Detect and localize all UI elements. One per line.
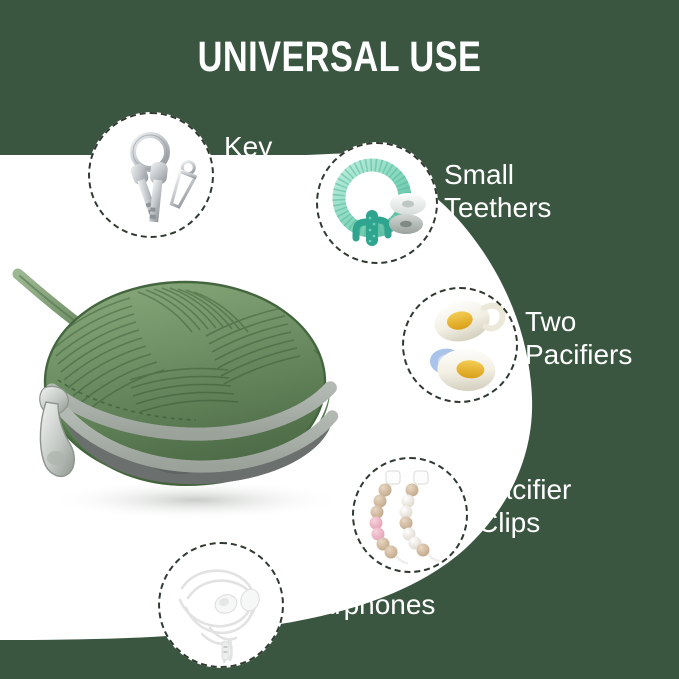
callout-circle-clips: [352, 457, 468, 573]
callout-label-key: Key: [224, 130, 272, 163]
callout-circle-key: [88, 112, 214, 238]
callout-label-earphones: Earphones: [300, 588, 435, 621]
page-title: UNIVERSAL USE: [68, 34, 611, 80]
callout-label-pacifiers: Two Pacifiers: [525, 305, 632, 371]
callout-label-teethers: Small Teethers: [444, 158, 551, 224]
dashed-ring-key: [88, 112, 214, 238]
dashed-ring-teethers: [316, 142, 438, 264]
callout-label-clips: Pacifier Clips: [478, 473, 571, 539]
dashed-ring-earphones: [158, 542, 284, 668]
dashed-ring-pacifiers: [402, 287, 518, 403]
callout-circle-pacifiers: [402, 287, 518, 403]
dashed-ring-clips: [352, 457, 468, 573]
callout-circle-earphones: [158, 542, 284, 668]
product-image-silicone-pouch: [10, 262, 360, 527]
callout-circle-teethers: [316, 142, 438, 264]
infographic-canvas: UNIVERSAL USE: [0, 0, 679, 679]
